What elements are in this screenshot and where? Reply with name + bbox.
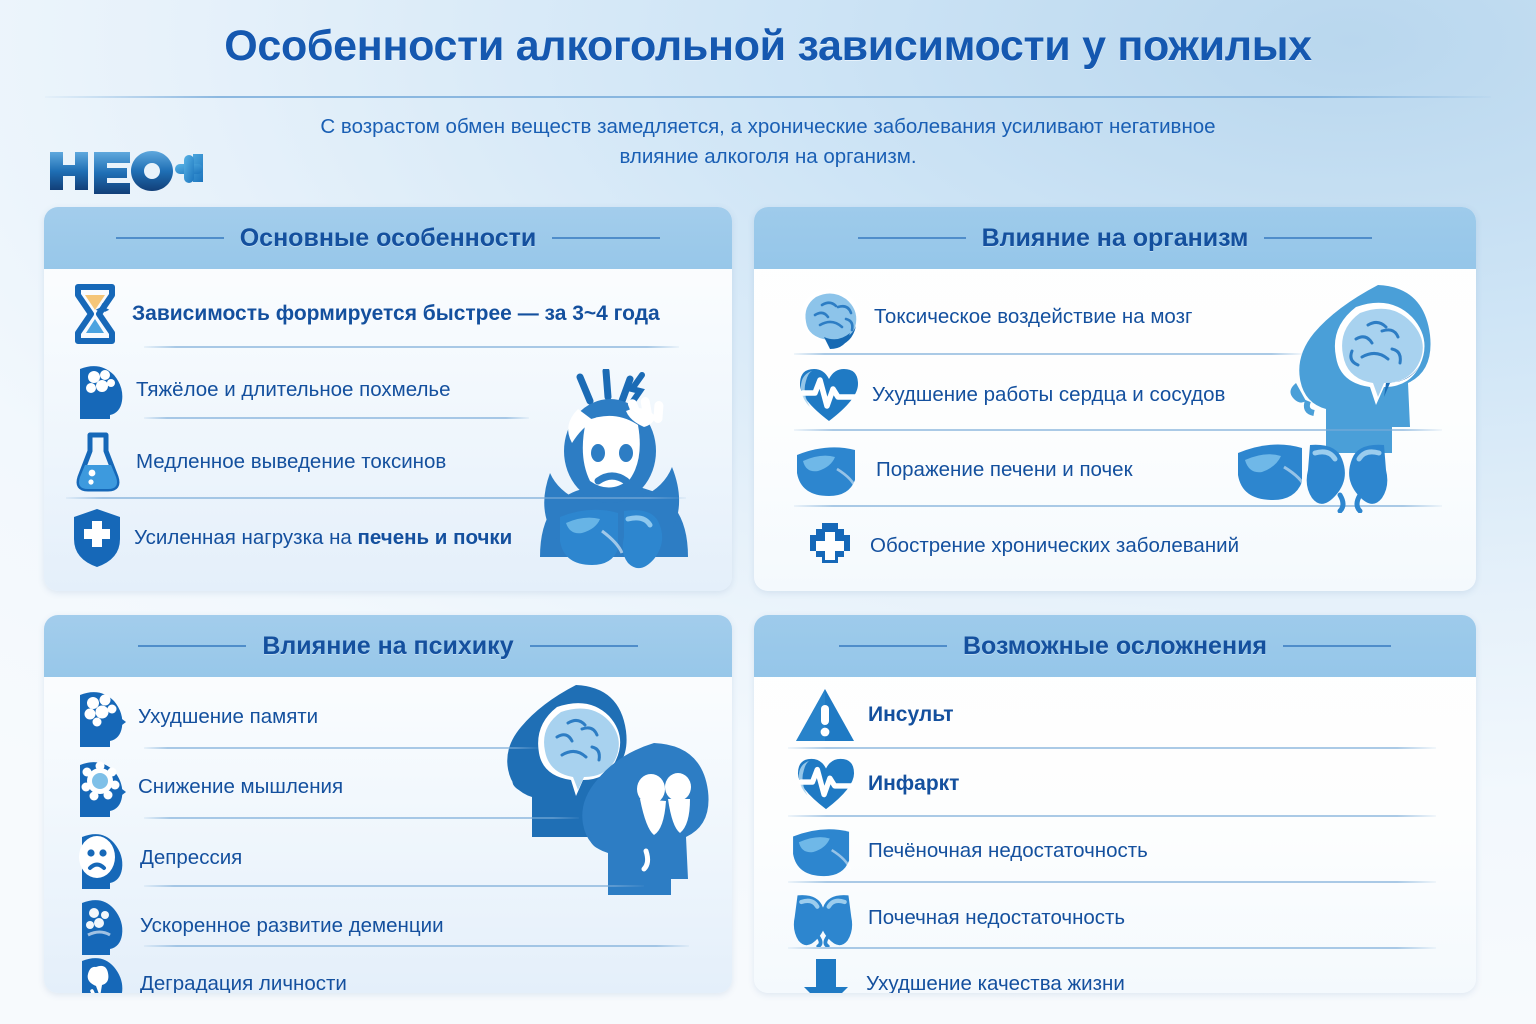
list-item: Токсическое воздействие на мозг xyxy=(796,285,1192,349)
row-divider xyxy=(788,815,1436,817)
head-thinking-icon xyxy=(72,757,126,817)
list-item-label: Печёночная недостаточность xyxy=(868,839,1148,863)
card-body: Токсическое воздействие на мозг Ухудшени… xyxy=(754,269,1476,591)
header-rule-left xyxy=(858,237,966,239)
list-item: Ухудшение работы сердца и сосудов xyxy=(798,365,1225,425)
head-pain-icon xyxy=(72,361,126,419)
list-item-label: Медленное выведение токсинов xyxy=(136,450,446,474)
list-item: Медленное выведение токсинов xyxy=(74,431,446,493)
liver-icon xyxy=(790,823,856,879)
card-osnovnye-osobennosti: Основные особенности xyxy=(44,207,732,591)
list-item-label: Деградация личности xyxy=(140,972,347,993)
list-item-label: Инфаркт xyxy=(868,772,959,796)
list-item-label: Депрессия xyxy=(140,846,242,870)
heart-pulse-icon xyxy=(798,365,860,425)
row-divider xyxy=(144,945,689,947)
card-vozmozhnye-oslozhneniya: Возможные осложнения Инсульт xyxy=(754,615,1476,993)
row-divider xyxy=(788,947,1436,949)
list-item-label: Инсульт xyxy=(868,703,954,727)
card-header: Влияние на психику xyxy=(44,615,732,677)
card-vliyanie-na-organizm: Влияние на организм xyxy=(754,207,1476,591)
kidneys-icon xyxy=(790,889,856,947)
list-item-label: Усиленная нагрузка на печень и почки xyxy=(134,526,512,550)
heart-pulse-icon xyxy=(796,755,856,813)
brain-icon xyxy=(796,285,864,349)
card-title: Влияние на психику xyxy=(246,632,529,661)
row-divider xyxy=(788,747,1436,749)
list-item-label: Зависимость формируется быстрее — за 3~4… xyxy=(132,302,660,326)
row-divider xyxy=(144,346,679,348)
card-body: Ухудшение памяти Снижение xyxy=(44,677,732,993)
flask-icon xyxy=(74,431,122,493)
row-divider xyxy=(144,885,644,887)
head-degradation-icon xyxy=(72,953,126,993)
list-item-label: Токсическое воздействие на мозг xyxy=(874,305,1192,329)
list-item-label: Снижение мышления xyxy=(138,775,343,799)
header-rule-left xyxy=(839,645,947,647)
list-item-label: Обострение хронических заболеваний xyxy=(870,534,1239,558)
headache-person-illustration xyxy=(522,369,707,559)
list-item: Инсульт xyxy=(794,685,954,745)
liver-kidney-illustration xyxy=(556,501,684,571)
page-title: Особенности алкогольной зависимости у по… xyxy=(0,22,1536,71)
list-item-label: Тяжёлое и длительное похмелье xyxy=(136,378,451,402)
hourglass-icon xyxy=(66,283,124,345)
card-header: Влияние на организм xyxy=(754,207,1476,269)
list-item: Поражение печени и почек xyxy=(794,441,1133,499)
row-divider xyxy=(66,497,686,499)
head-dementia-icon xyxy=(72,895,126,957)
neo-plus-logo xyxy=(48,148,203,194)
list-item: Ускоренное развитие деменции xyxy=(72,895,444,957)
list-item: Почечная недостаточность xyxy=(790,889,1125,947)
page-subtitle: С возрастом обмен веществ замедляется, а… xyxy=(300,112,1236,171)
list-item: Снижение мышления xyxy=(72,757,343,817)
head-memory-icon xyxy=(72,687,126,747)
card-body: Зависимость формируется быстрее — за 3~4… xyxy=(44,269,732,591)
list-item: Зависимость формируется быстрее — за 3~4… xyxy=(66,283,660,345)
list-item-label: Почечная недостаточность xyxy=(868,906,1125,930)
title-divider xyxy=(45,96,1491,98)
card-vliyanie-na-psihiku: Влияние на психику xyxy=(44,615,732,993)
shield-cross-icon xyxy=(72,507,122,569)
down-arrow-icon xyxy=(800,955,852,993)
logo-icon xyxy=(48,148,203,194)
row-divider xyxy=(144,747,539,749)
header-rule-left xyxy=(116,237,224,239)
list-item: Инфаркт xyxy=(796,755,959,813)
list-item: Ухудшение качества жизни xyxy=(800,955,1125,993)
row-divider xyxy=(788,881,1436,883)
liver-kidneys-illustration xyxy=(1234,437,1434,513)
row-divider xyxy=(794,505,1442,507)
header-rule-left xyxy=(138,645,246,647)
warning-triangle-icon xyxy=(794,685,856,745)
card-header: Основные особенности xyxy=(44,207,732,269)
list-item-label: Ускоренное развитие деменции xyxy=(140,914,444,938)
card-title: Основные особенности xyxy=(224,224,553,253)
row-divider xyxy=(144,417,529,419)
two-heads-brain-illustration xyxy=(504,681,714,896)
list-item-label: Поражение печени и почек xyxy=(876,458,1133,482)
row-divider xyxy=(144,817,579,819)
header-rule-right xyxy=(1283,645,1391,647)
head-brain-illustration xyxy=(1282,279,1442,479)
list-item: Печёночная недостаточность xyxy=(790,823,1148,879)
list-item: Усиленная нагрузка на печень и почки xyxy=(72,507,512,569)
list-item-label: Ухудшение работы сердца и сосудов xyxy=(872,383,1225,407)
list-item: Обострение хронических заболеваний xyxy=(802,519,1239,573)
card-title: Возможные осложнения xyxy=(947,632,1283,661)
infographic-page: Особенности алкогольной зависимости у по… xyxy=(0,0,1536,1024)
list-item: Депрессия xyxy=(72,827,242,889)
list-item-label: Ухудшение качества жизни xyxy=(866,972,1125,993)
medical-cross-icon xyxy=(802,519,858,573)
list-item-label: Ухудшение памяти xyxy=(138,705,318,729)
header-rule-right xyxy=(530,645,638,647)
list-item: Деградация личности xyxy=(72,953,347,993)
header-rule-right xyxy=(1264,237,1372,239)
card-title: Влияние на организм xyxy=(966,224,1265,253)
liver-icon xyxy=(794,441,862,499)
card-body: Инсульт Инфаркт Печёночн xyxy=(754,677,1476,993)
header-rule-right xyxy=(552,237,660,239)
card-header: Возможные осложнения xyxy=(754,615,1476,677)
sad-face-head-icon xyxy=(72,827,126,889)
list-item: Ухудшение памяти xyxy=(72,687,318,747)
list-item: Тяжёлое и длительное похмелье xyxy=(72,361,451,419)
row-divider xyxy=(794,429,1442,431)
row-divider xyxy=(794,353,1302,355)
